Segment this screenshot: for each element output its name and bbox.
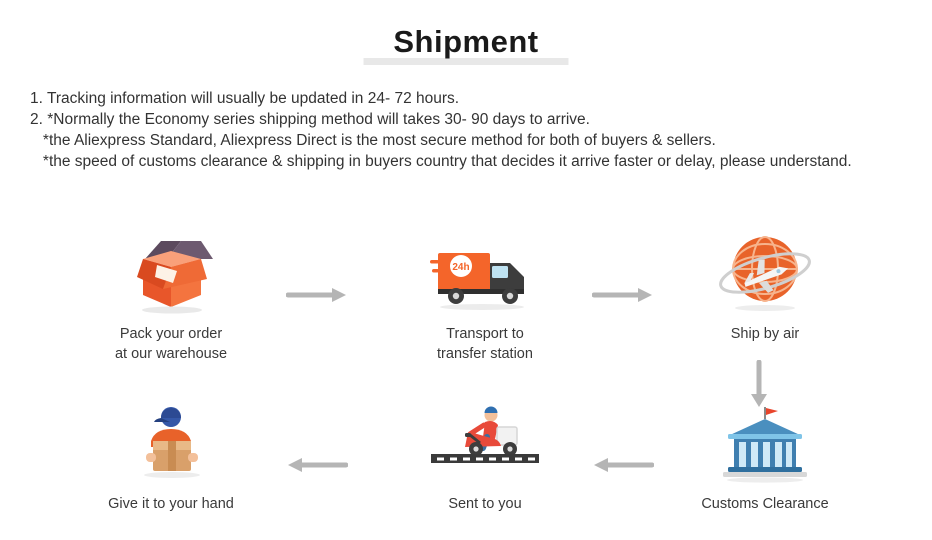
- note-line-3: *the Aliexpress Standard, Aliexpress Dir…: [30, 130, 902, 151]
- flow-step-transport-caption-line1: Transport to: [390, 324, 580, 344]
- flow-step-air-caption: Ship by air: [670, 324, 860, 344]
- flow-step-pack-caption-line1: Pack your order: [76, 324, 266, 344]
- flow-step-give-caption: Give it to your hand: [76, 494, 266, 514]
- flow-step-transport: 24h Transport to transfer station: [390, 230, 580, 364]
- customs-building-icon: [670, 400, 860, 486]
- flow-step-pack: Pack your order at our warehouse: [76, 230, 266, 364]
- delivery-truck-icon: 24h: [390, 230, 580, 316]
- page-title: Shipment: [0, 24, 932, 60]
- flow-step-air: Ship by air: [670, 230, 860, 344]
- flow-step-customs-caption-line1: Customs Clearance: [670, 494, 860, 514]
- shipment-flow-diagram: Pack your order at our warehouse 24h: [0, 230, 932, 530]
- flow-step-transport-caption: Transport to transfer station: [390, 324, 580, 364]
- flow-step-sent-caption: Sent to you: [390, 494, 580, 514]
- note-line-4: *the speed of customs clearance & shippi…: [30, 151, 902, 172]
- arrow-right-icon: [286, 286, 348, 304]
- svg-text:24h: 24h: [452, 262, 469, 273]
- arrow-right-icon: [592, 286, 654, 304]
- flow-step-give: Give it to your hand: [76, 400, 266, 514]
- arrow-left-icon: [592, 456, 654, 474]
- flow-step-air-caption-line1: Ship by air: [670, 324, 860, 344]
- flow-step-customs: Customs Clearance: [670, 400, 860, 514]
- shipping-notes: 1. Tracking information will usually be …: [30, 88, 902, 172]
- flow-step-give-caption-line1: Give it to your hand: [76, 494, 266, 514]
- note-line-1: 1. Tracking information will usually be …: [30, 88, 902, 109]
- flow-step-sent-caption-line1: Sent to you: [390, 494, 580, 514]
- note-line-2: 2. *Normally the Economy series shipping…: [30, 109, 902, 130]
- arrow-left-icon: [286, 456, 348, 474]
- flow-step-sent: Sent to you: [390, 400, 580, 514]
- flow-step-pack-caption-line2: at our warehouse: [76, 344, 266, 364]
- flow-step-pack-caption: Pack your order at our warehouse: [76, 324, 266, 364]
- package-handover-icon: [76, 400, 266, 486]
- open-box-icon: [76, 230, 266, 316]
- scooter-courier-icon: [390, 400, 580, 486]
- flow-step-transport-caption-line2: transfer station: [390, 344, 580, 364]
- page-title-text: Shipment: [393, 24, 538, 60]
- flow-step-customs-caption: Customs Clearance: [670, 494, 860, 514]
- globe-airplane-icon: [670, 230, 860, 316]
